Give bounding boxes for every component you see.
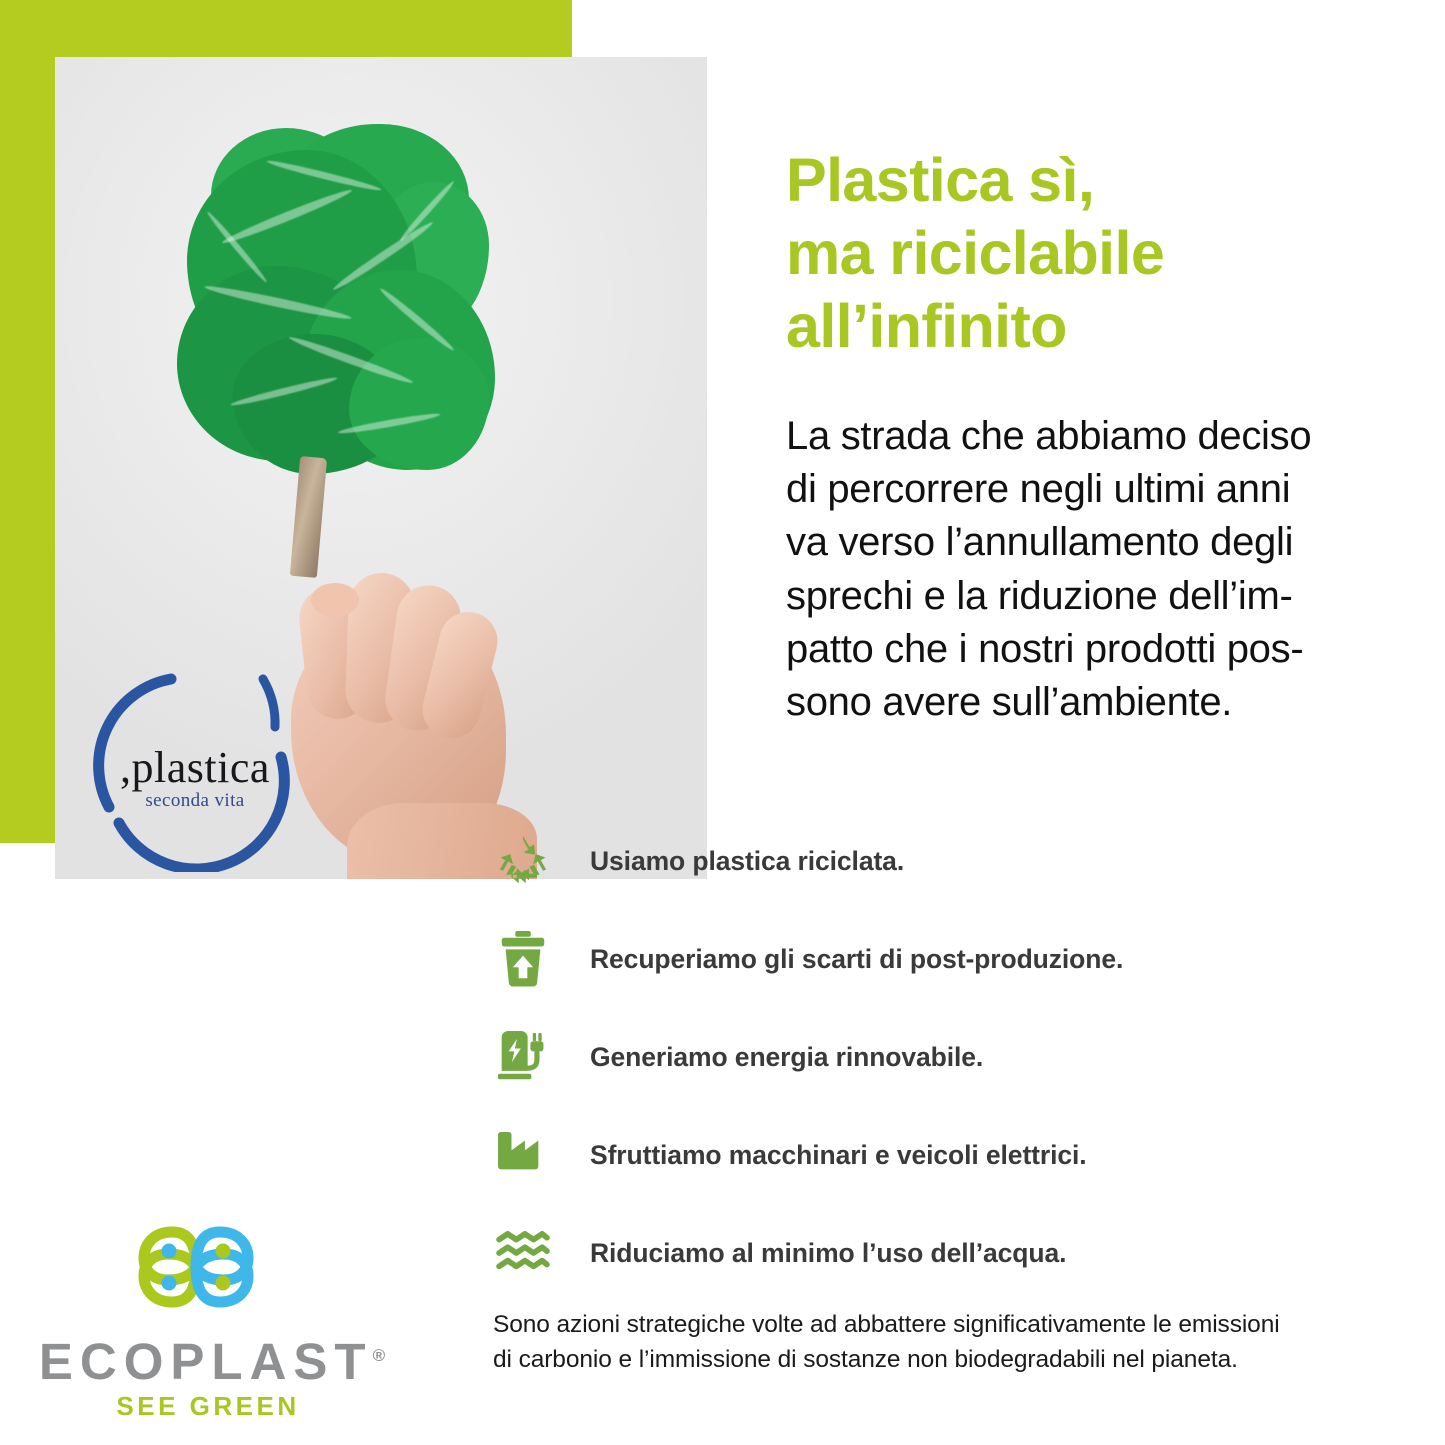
lead-line-5: patto che i nostri prodotti pos- [786,623,1386,676]
list-item-label: Sfruttiamo macchinari e veicoli elettric… [590,1140,1087,1171]
list-item: Recuperiamo gli scarti di post-produzion… [492,910,1392,1008]
paper-tree-foliage [173,120,493,480]
lead-line-2: di percorrere negli ultimi anni [786,463,1386,516]
list-item-label: Recuperiamo gli scarti di post-produzion… [590,944,1123,975]
ecoplast-wordmark: ECOPLAST® [22,1332,402,1391]
recycle-icon [492,830,554,892]
lead-line-3: va verso l’annullamento degli [786,516,1386,569]
ecoplast-tagline: SEE GREEN [22,1391,394,1422]
footer-note-line-1: Sono azioni strategiche volte ad abbatte… [493,1308,1393,1343]
registered-mark: ® [373,1346,386,1365]
ev-charger-icon [492,1026,554,1088]
page-headline: Plastica sì, ma riciclabile all’infinito [786,144,1406,364]
list-item: Sfruttiamo macchinari e veicoli elettric… [492,1106,1392,1204]
list-item: Usiamo plastica riciclata. [492,812,1392,910]
ecoplast-logo: ECOPLAST® SEE GREEN [22,1206,402,1436]
list-item-label: Usiamo plastica riciclata. [590,846,904,877]
lead-paragraph: La strada che abbiamo deciso di percorre… [786,410,1386,729]
lead-line-6: sono avere sull’ambiente. [786,676,1386,729]
hero-photo: ,plastica seconda vita [55,57,707,879]
plastica-wordmark: ,plastica [87,742,303,793]
footer-note-line-2: di carbonio e l’immissione di sostanze n… [493,1343,1393,1378]
trash-recover-icon [492,928,554,990]
sustainability-actions-list: Usiamo plastica riciclata. Recuperiamo g… [492,812,1392,1302]
ecoplast-wordmark-text: ECOPLAST [39,1333,373,1390]
list-item-label: Generiamo energia rinnovabile. [590,1042,983,1073]
lead-line-1: La strada che abbiamo deciso [786,410,1386,463]
list-item-label: Riduciamo al minimo l’uso dell’acqua. [590,1238,1066,1269]
poster-canvas: ,plastica seconda vita Plastica sì, ma r… [0,0,1445,1445]
plastica-tagline: seconda vita [87,790,303,812]
water-waves-icon [492,1222,554,1284]
ecoplast-butterfly-icon [130,1206,262,1328]
headline-line-1: Plastica sì, [786,144,1406,217]
headline-line-3: all’infinito [786,290,1406,363]
list-item: Riduciamo al minimo l’uso dell’acqua. [492,1204,1392,1302]
footer-note: Sono azioni strategiche volte ad abbatte… [493,1308,1393,1378]
plastica-seconda-vita-logo: ,plastica seconda vita [75,657,315,872]
list-item: Generiamo energia rinnovabile. [492,1008,1392,1106]
factory-icon [492,1124,554,1186]
headline-line-2: ma riciclabile [786,217,1406,290]
lead-line-4: sprechi e la riduzione dell’im- [786,570,1386,623]
